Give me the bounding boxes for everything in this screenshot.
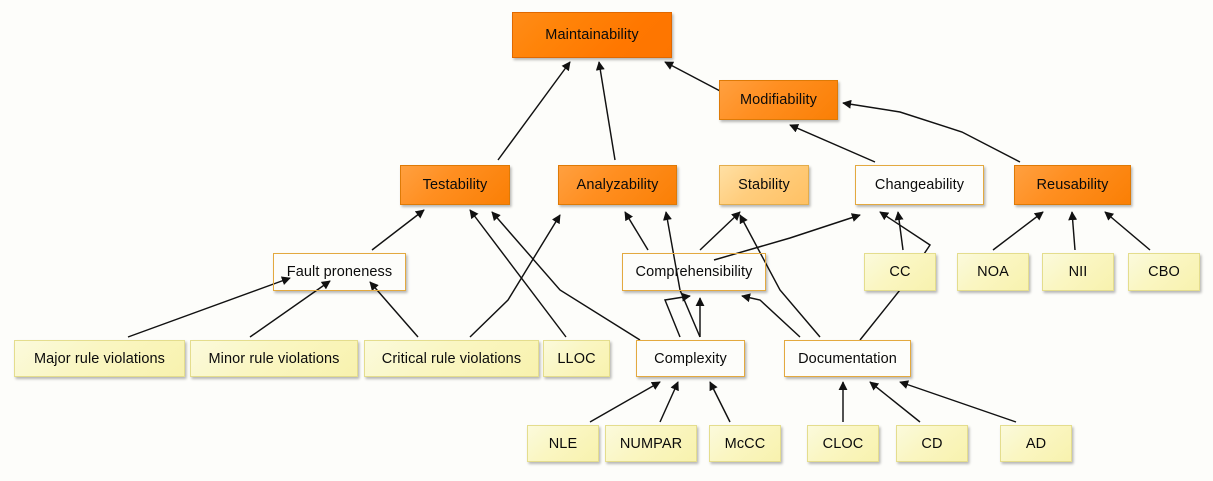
node-label: NLE	[549, 436, 578, 452]
node-label: NII	[1069, 264, 1088, 280]
node-major_rule[interactable]: Major rule violations	[14, 340, 185, 377]
node-critical_rule[interactable]: Critical rule violations	[364, 340, 539, 377]
node-changeability[interactable]: Changeability	[855, 165, 984, 205]
edge-complexity-to-testability	[492, 212, 640, 340]
edge-mccc-to-complexity	[710, 382, 730, 422]
node-analyzability[interactable]: Analyzability	[558, 165, 677, 205]
node-label: CD	[921, 436, 942, 452]
node-cloc[interactable]: CLOC	[807, 425, 879, 462]
node-label: Modifiability	[740, 92, 817, 108]
node-label: Analyzability	[577, 177, 659, 193]
edge-reusability-to-modifiability	[843, 103, 1020, 162]
node-noa[interactable]: NOA	[957, 253, 1029, 291]
node-label: LLOC	[557, 351, 595, 367]
node-reusability[interactable]: Reusability	[1014, 165, 1131, 205]
node-label: CLOC	[823, 436, 864, 452]
node-minor_rule[interactable]: Minor rule violations	[190, 340, 358, 377]
edge-critical_rule-to-analyzability	[470, 215, 560, 337]
edge-layer	[0, 0, 1213, 481]
edge-modifiability-to-maintainability	[665, 62, 722, 92]
node-comprehensibility[interactable]: Comprehensibility	[622, 253, 766, 291]
node-label: Fault proneness	[287, 264, 392, 280]
node-nle[interactable]: NLE	[527, 425, 599, 462]
node-documentation[interactable]: Documentation	[784, 340, 911, 377]
node-complexity[interactable]: Complexity	[636, 340, 745, 377]
node-label: AD	[1026, 436, 1046, 452]
node-label: CBO	[1148, 264, 1180, 280]
edge-analyzability-to-maintainability	[599, 62, 615, 160]
edge-lloc-to-testability	[470, 210, 566, 337]
node-ad[interactable]: AD	[1000, 425, 1072, 462]
node-lloc[interactable]: LLOC	[543, 340, 610, 377]
node-label: Complexity	[654, 351, 727, 367]
edge-cbo-to-reusability	[1105, 212, 1150, 250]
node-nii[interactable]: NII	[1042, 253, 1114, 291]
diagram-canvas: MaintainabilityModifiabilityTestabilityA…	[0, 0, 1213, 481]
node-label: Testability	[423, 177, 488, 193]
node-cbo[interactable]: CBO	[1128, 253, 1200, 291]
edge-comprehensibility-to-stability	[700, 212, 740, 250]
node-label: Stability	[738, 177, 790, 193]
edge-fault_proneness-to-testability	[372, 210, 424, 250]
edge-noa-to-reusability	[993, 212, 1043, 250]
edge-nii-to-reusability	[1072, 212, 1075, 250]
node-label: CC	[889, 264, 910, 280]
node-label: Major rule violations	[34, 351, 165, 367]
node-numpar[interactable]: NUMPAR	[605, 425, 697, 462]
edge-nle-to-complexity	[590, 382, 660, 422]
edge-documentation-to-comprehensibility	[742, 296, 800, 337]
node-label: Changeability	[875, 177, 964, 193]
node-stability[interactable]: Stability	[719, 165, 809, 205]
node-label: McCC	[725, 436, 766, 452]
edge-numpar-to-complexity	[660, 382, 678, 422]
edge-cd-to-documentation	[870, 382, 920, 422]
node-label: Critical rule violations	[382, 351, 521, 367]
node-label: Comprehensibility	[636, 264, 753, 280]
edge-cc-to-changeability	[898, 212, 903, 250]
node-mccc[interactable]: McCC	[709, 425, 781, 462]
node-cc[interactable]: CC	[864, 253, 936, 291]
node-testability[interactable]: Testability	[400, 165, 510, 205]
edge-ad-to-documentation	[900, 382, 1016, 422]
node-label: Maintainability	[545, 27, 638, 43]
node-label: NUMPAR	[620, 436, 682, 452]
node-cd[interactable]: CD	[896, 425, 968, 462]
edge-major_rule-to-fault_proneness	[128, 278, 290, 337]
node-label: Reusability	[1036, 177, 1108, 193]
edge-testability-to-maintainability	[498, 62, 570, 160]
node-modifiability[interactable]: Modifiability	[719, 80, 838, 120]
node-maintainability[interactable]: Maintainability	[512, 12, 672, 58]
node-label: Minor rule violations	[208, 351, 339, 367]
edge-comprehensibility-to-analyzability	[625, 212, 648, 250]
node-label: Documentation	[798, 351, 897, 367]
edge-complexity-to-comprehensibility	[665, 296, 690, 337]
node-label: NOA	[977, 264, 1009, 280]
edge-changeability-to-modifiability	[790, 125, 875, 162]
node-fault_proneness[interactable]: Fault proneness	[273, 253, 406, 291]
